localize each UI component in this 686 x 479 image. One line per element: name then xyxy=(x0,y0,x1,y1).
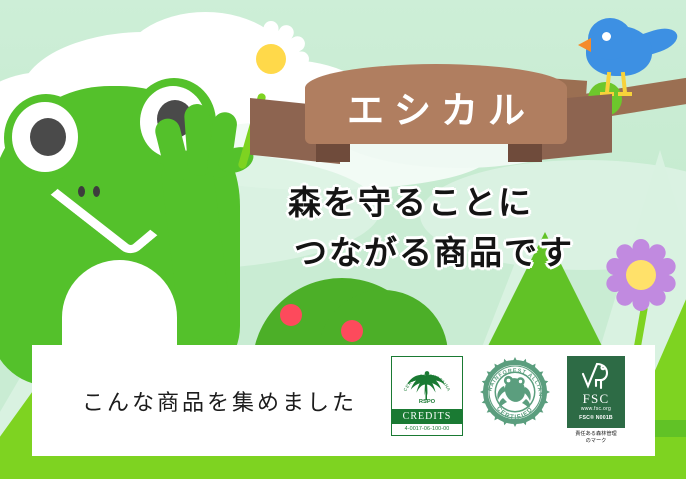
rspo-palm-icon: CERTIFIED SUSTAINABLE PALM OIL RSPO xyxy=(397,360,457,406)
fsc-logo-wrap: FSC www.fsc.org FSC® N001B 責任ある森林管理 のマーク xyxy=(567,356,625,445)
rainforest-alliance-frog-seal-icon: RAINFOREST ALLIANCE CERTIFIED xyxy=(479,356,551,428)
ribbon-banner: エシカル xyxy=(305,64,567,144)
svg-text:RSPO: RSPO xyxy=(419,399,436,405)
headline-block: 森を守ることに つながる商品です xyxy=(288,178,636,278)
headline-line-1: 森を守ることに xyxy=(288,178,636,228)
fsc-tree-checkmark-icon xyxy=(579,361,613,391)
certification-logo-group: CERTIFIED SUSTAINABLE PALM OIL RSPO CRED… xyxy=(391,356,625,445)
rspo-logo: CERTIFIED SUSTAINABLE PALM OIL RSPO CRED… xyxy=(391,356,463,436)
fsc-caption: 責任ある森林管理 のマーク xyxy=(575,431,617,445)
frog-pupil xyxy=(30,118,66,156)
rspo-credits-label: CREDITS xyxy=(392,409,462,424)
footer-bar: こんな商品を集めました xyxy=(32,345,655,456)
fsc-url: www.fsc.org xyxy=(581,406,611,412)
daisy-flower-icon xyxy=(232,20,310,98)
bird-beak xyxy=(578,38,591,52)
rspo-emblem: CERTIFIED SUSTAINABLE PALM OIL RSPO xyxy=(392,357,462,409)
ribbon-label: エシカル xyxy=(337,80,535,134)
berry-icon xyxy=(280,304,302,326)
bird-foot xyxy=(618,92,632,96)
fsc-name: FSC xyxy=(583,392,610,405)
rspo-code: 4-0017-06-100-00 xyxy=(392,424,462,435)
rainforest-alliance-logo: RAINFOREST ALLIANCE CERTIFIED xyxy=(479,356,551,428)
fsc-caption-line-1: 責任ある森林管理 xyxy=(575,431,617,438)
fsc-caption-line-2: のマーク xyxy=(575,438,617,445)
bird-eye xyxy=(602,32,611,41)
fsc-logo: FSC www.fsc.org FSC® N001B xyxy=(567,356,625,428)
svg-text:CERTIFIED SUSTAINABLE PALM OIL: CERTIFIED SUSTAINABLE PALM OIL xyxy=(397,360,452,392)
berry-icon xyxy=(341,320,363,342)
fsc-code: FSC® N001B xyxy=(579,415,613,421)
footer-text: こんな商品を集めました xyxy=(82,385,357,417)
flower-center xyxy=(256,44,286,74)
headline-line-2: つながる商品です xyxy=(294,228,636,278)
ethical-products-banner: エシカル 森を守ることに つながる商品です こんな商品を集めました xyxy=(0,0,686,479)
